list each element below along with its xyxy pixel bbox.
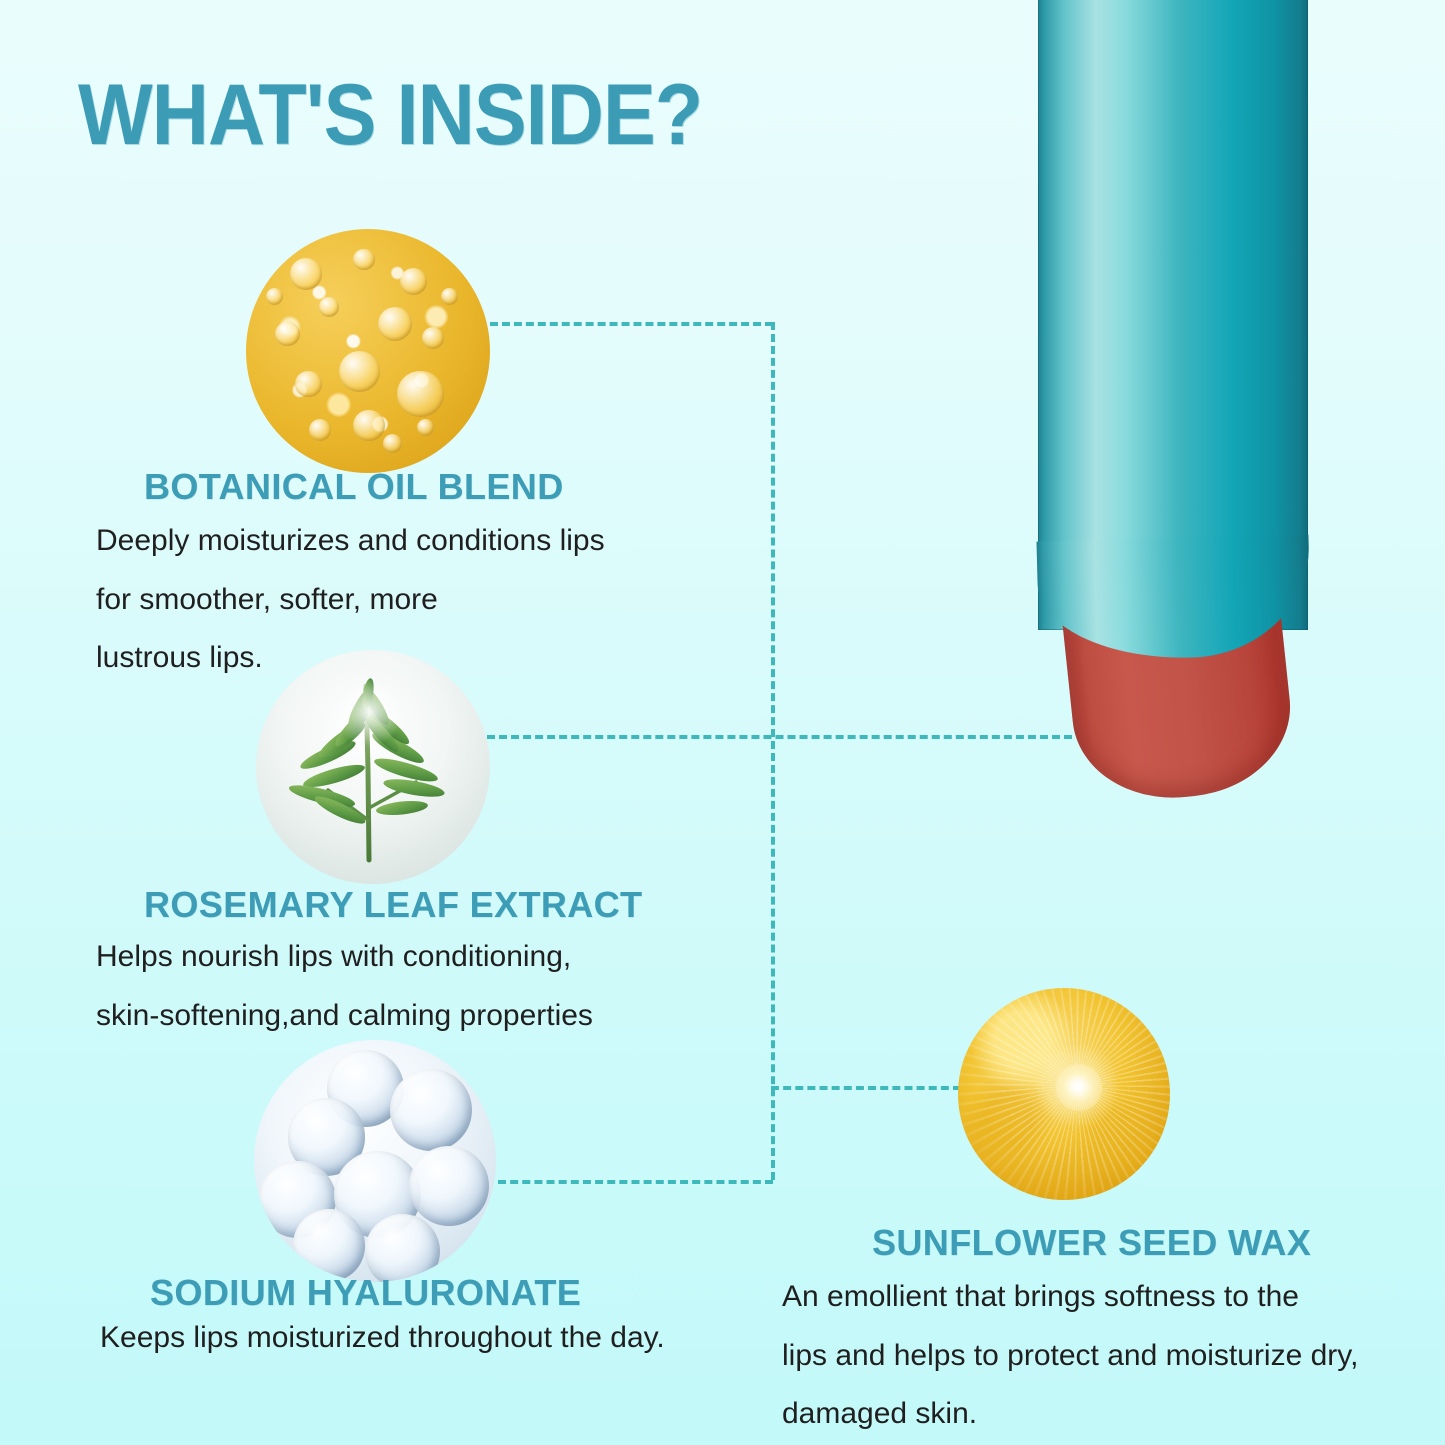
connector-line-oil-horizontal <box>490 322 773 326</box>
connector-line-hyaluronate-horizontal <box>498 1180 773 1184</box>
infographic-canvas: WHAT'S INSIDE? BOTANICAL OIL BLEND Deepl… <box>0 0 1445 1445</box>
golden-oil-bubbles-swatch <box>246 229 490 473</box>
ingredient-description-sunflower-seed-wax: An emollient that brings softness to the… <box>782 1268 1422 1444</box>
description-line: lips and helps to protect and moisturize… <box>782 1327 1422 1386</box>
description-line: Keeps lips moisturized throughout the da… <box>100 1318 780 1357</box>
water-bubbles-swatch <box>254 1040 496 1282</box>
amber-wax-sphere-swatch <box>958 988 1170 1200</box>
connector-line-rosemary-horizontal <box>487 735 1072 739</box>
ingredient-title-sodium-hyaluronate: SODIUM HYALURONATE <box>150 1272 581 1314</box>
description-line: skin-softening,and calming properties <box>96 987 716 1046</box>
ingredient-title-rosemary-leaf-extract: ROSEMARY LEAF EXTRACT <box>144 884 642 926</box>
lipstick-product-image <box>1024 0 1324 810</box>
rosemary-sprig-swatch <box>256 650 490 884</box>
ingredient-description-sodium-hyaluronate: Keeps lips moisturized throughout the da… <box>100 1318 780 1357</box>
description-line: An emollient that brings softness to the <box>782 1268 1422 1327</box>
ingredient-title-botanical-oil-blend: BOTANICAL OIL BLEND <box>144 466 564 508</box>
ingredient-title-sunflower-seed-wax: SUNFLOWER SEED WAX <box>872 1222 1311 1264</box>
description-line: for smoother, softer, more <box>96 571 716 630</box>
page-title: WHAT'S INSIDE? <box>78 72 702 158</box>
wax-core-highlight <box>1056 1064 1103 1111</box>
description-line: Helps nourish lips with conditioning, <box>96 928 716 987</box>
ingredient-description-rosemary-leaf-extract: Helps nourish lips with conditioning, sk… <box>96 928 716 1045</box>
description-line: Deeply moisturizes and conditions lips <box>96 512 716 571</box>
description-line: damaged skin. <box>782 1385 1422 1444</box>
connector-line-sunflower-horizontal <box>771 1086 961 1090</box>
connector-line-vertical-trunk <box>771 322 775 1180</box>
